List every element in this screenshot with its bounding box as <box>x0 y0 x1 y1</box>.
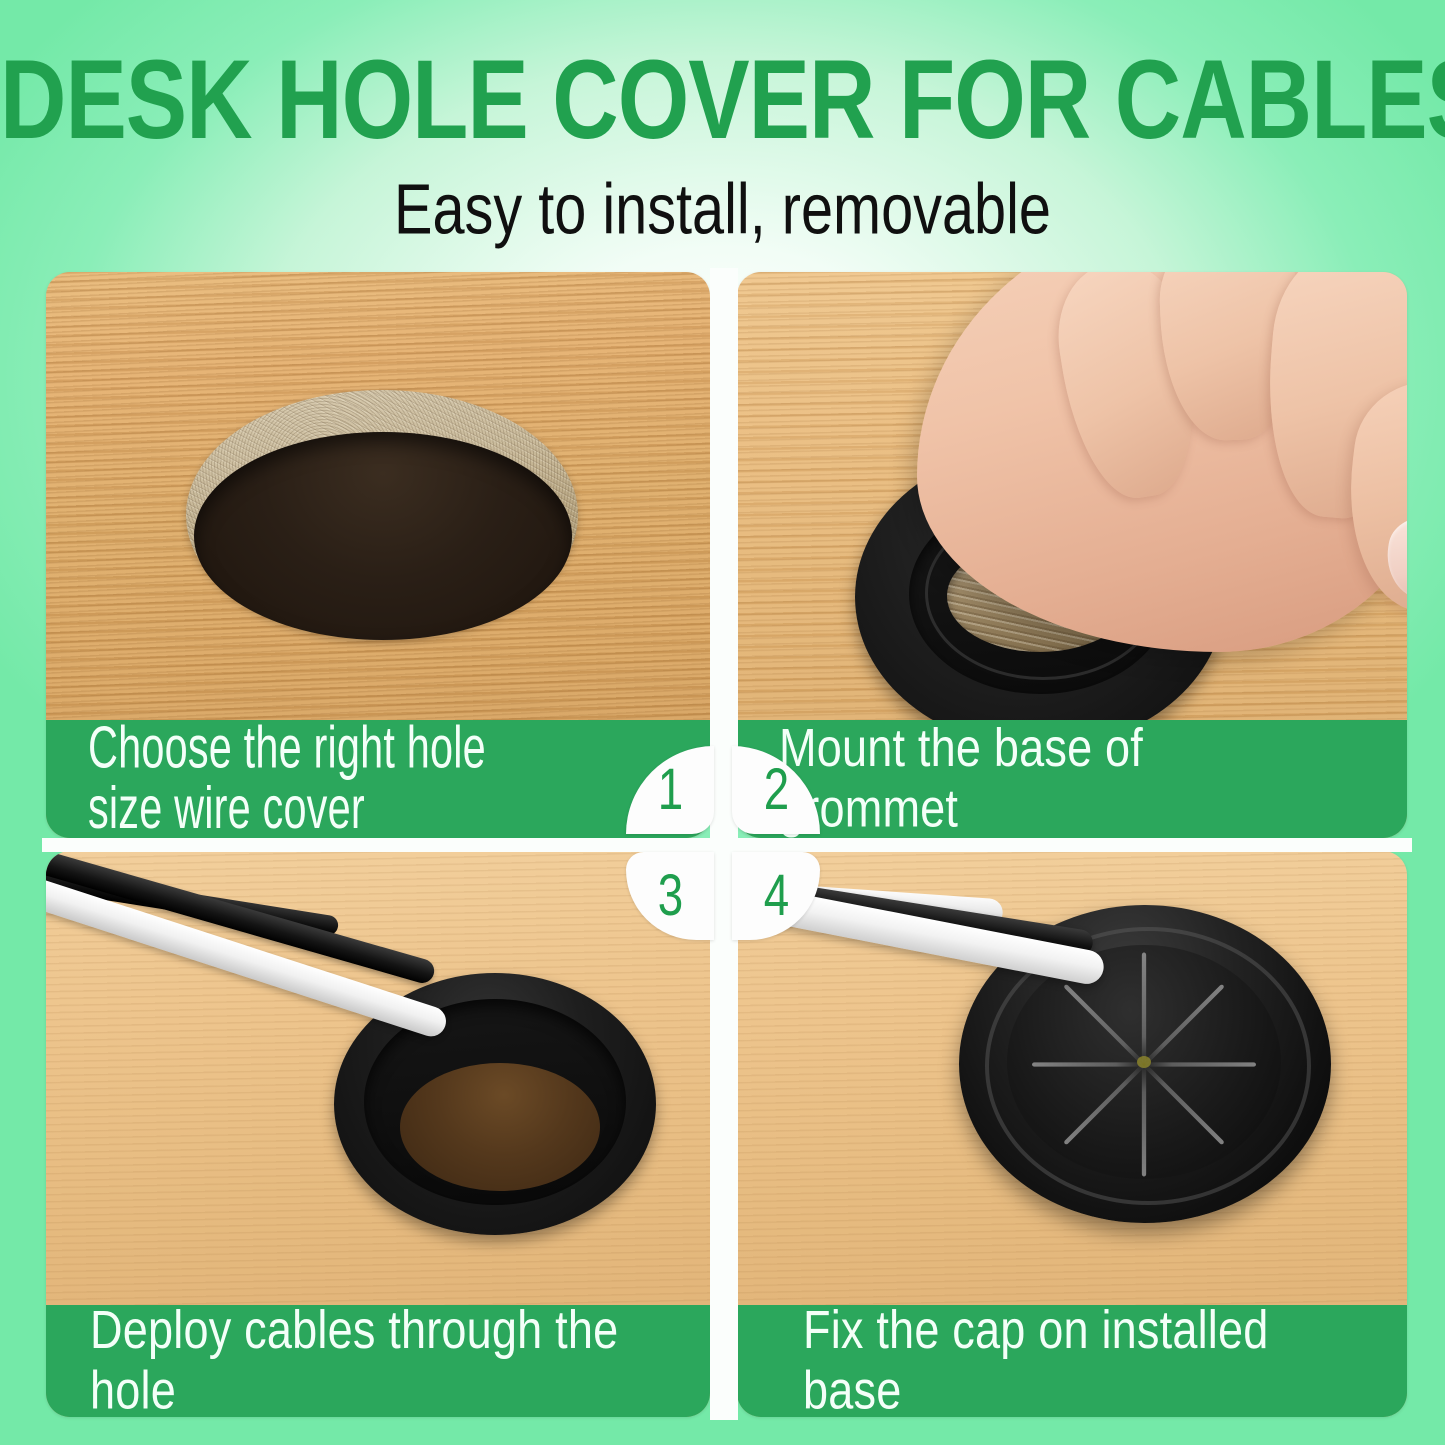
cap-slit-3 <box>1142 1065 1146 1177</box>
cap-slit-1 <box>1144 1062 1256 1066</box>
page-subtitle: Easy to install, removable <box>51 175 1395 246</box>
cap-slotted-face <box>1007 945 1281 1179</box>
step-2-caption: Mount the base of grommet <box>737 720 1407 838</box>
step-panel-4: Fix the cap on installed base <box>737 851 1407 1417</box>
step-number-badge-4: 4 <box>732 852 820 940</box>
step-number-badge-1: 1 <box>626 746 714 834</box>
step-4-caption: Fix the cap on installed base <box>737 1305 1407 1417</box>
step-number-badge-2: 2 <box>732 746 820 834</box>
cap-slit-7 <box>1142 953 1146 1065</box>
step-number-3: 3 <box>657 862 682 929</box>
step-number-4: 4 <box>763 862 788 929</box>
cap-slit-8 <box>1142 984 1224 1066</box>
cap-slit-4 <box>1063 1063 1145 1145</box>
step-1-caption: Choose the right holesize wire cover <box>46 720 710 838</box>
step-panel-3: Deploy cables through the hole <box>46 851 710 1417</box>
step-number-2: 2 <box>763 756 788 823</box>
step-number-dial: 1 2 3 4 <box>626 746 820 940</box>
step-1-caption-line1: Choose the right hole <box>88 716 486 782</box>
step-2-caption-text: Mount the base of grommet <box>779 719 1329 838</box>
infographic-canvas: DESK HOLE COVER FOR CABLES Easy to insta… <box>0 0 1445 1445</box>
step-number-1: 1 <box>657 756 682 823</box>
cap-slit-2 <box>1142 1063 1224 1145</box>
step-panel-2: Mount the base of grommet <box>737 272 1407 838</box>
step-3-caption-text: Deploy cables through the hole <box>90 1301 622 1417</box>
page-title: DESK HOLE COVER FOR CABLES <box>0 44 1445 156</box>
cap-slit-5 <box>1032 1062 1144 1066</box>
step-3-caption: Deploy cables through the hole <box>46 1305 710 1417</box>
step-panel-1: Choose the right holesize wire cover <box>46 272 710 838</box>
step-4-caption-text: Fix the cap on installed base <box>803 1301 1320 1417</box>
step-1-caption-line2: size wire cover <box>88 776 486 838</box>
cap-slit-6 <box>1063 984 1145 1066</box>
step-number-badge-3: 3 <box>626 852 714 940</box>
hole-opening <box>194 432 572 640</box>
grommet-base-opening <box>400 1063 600 1191</box>
